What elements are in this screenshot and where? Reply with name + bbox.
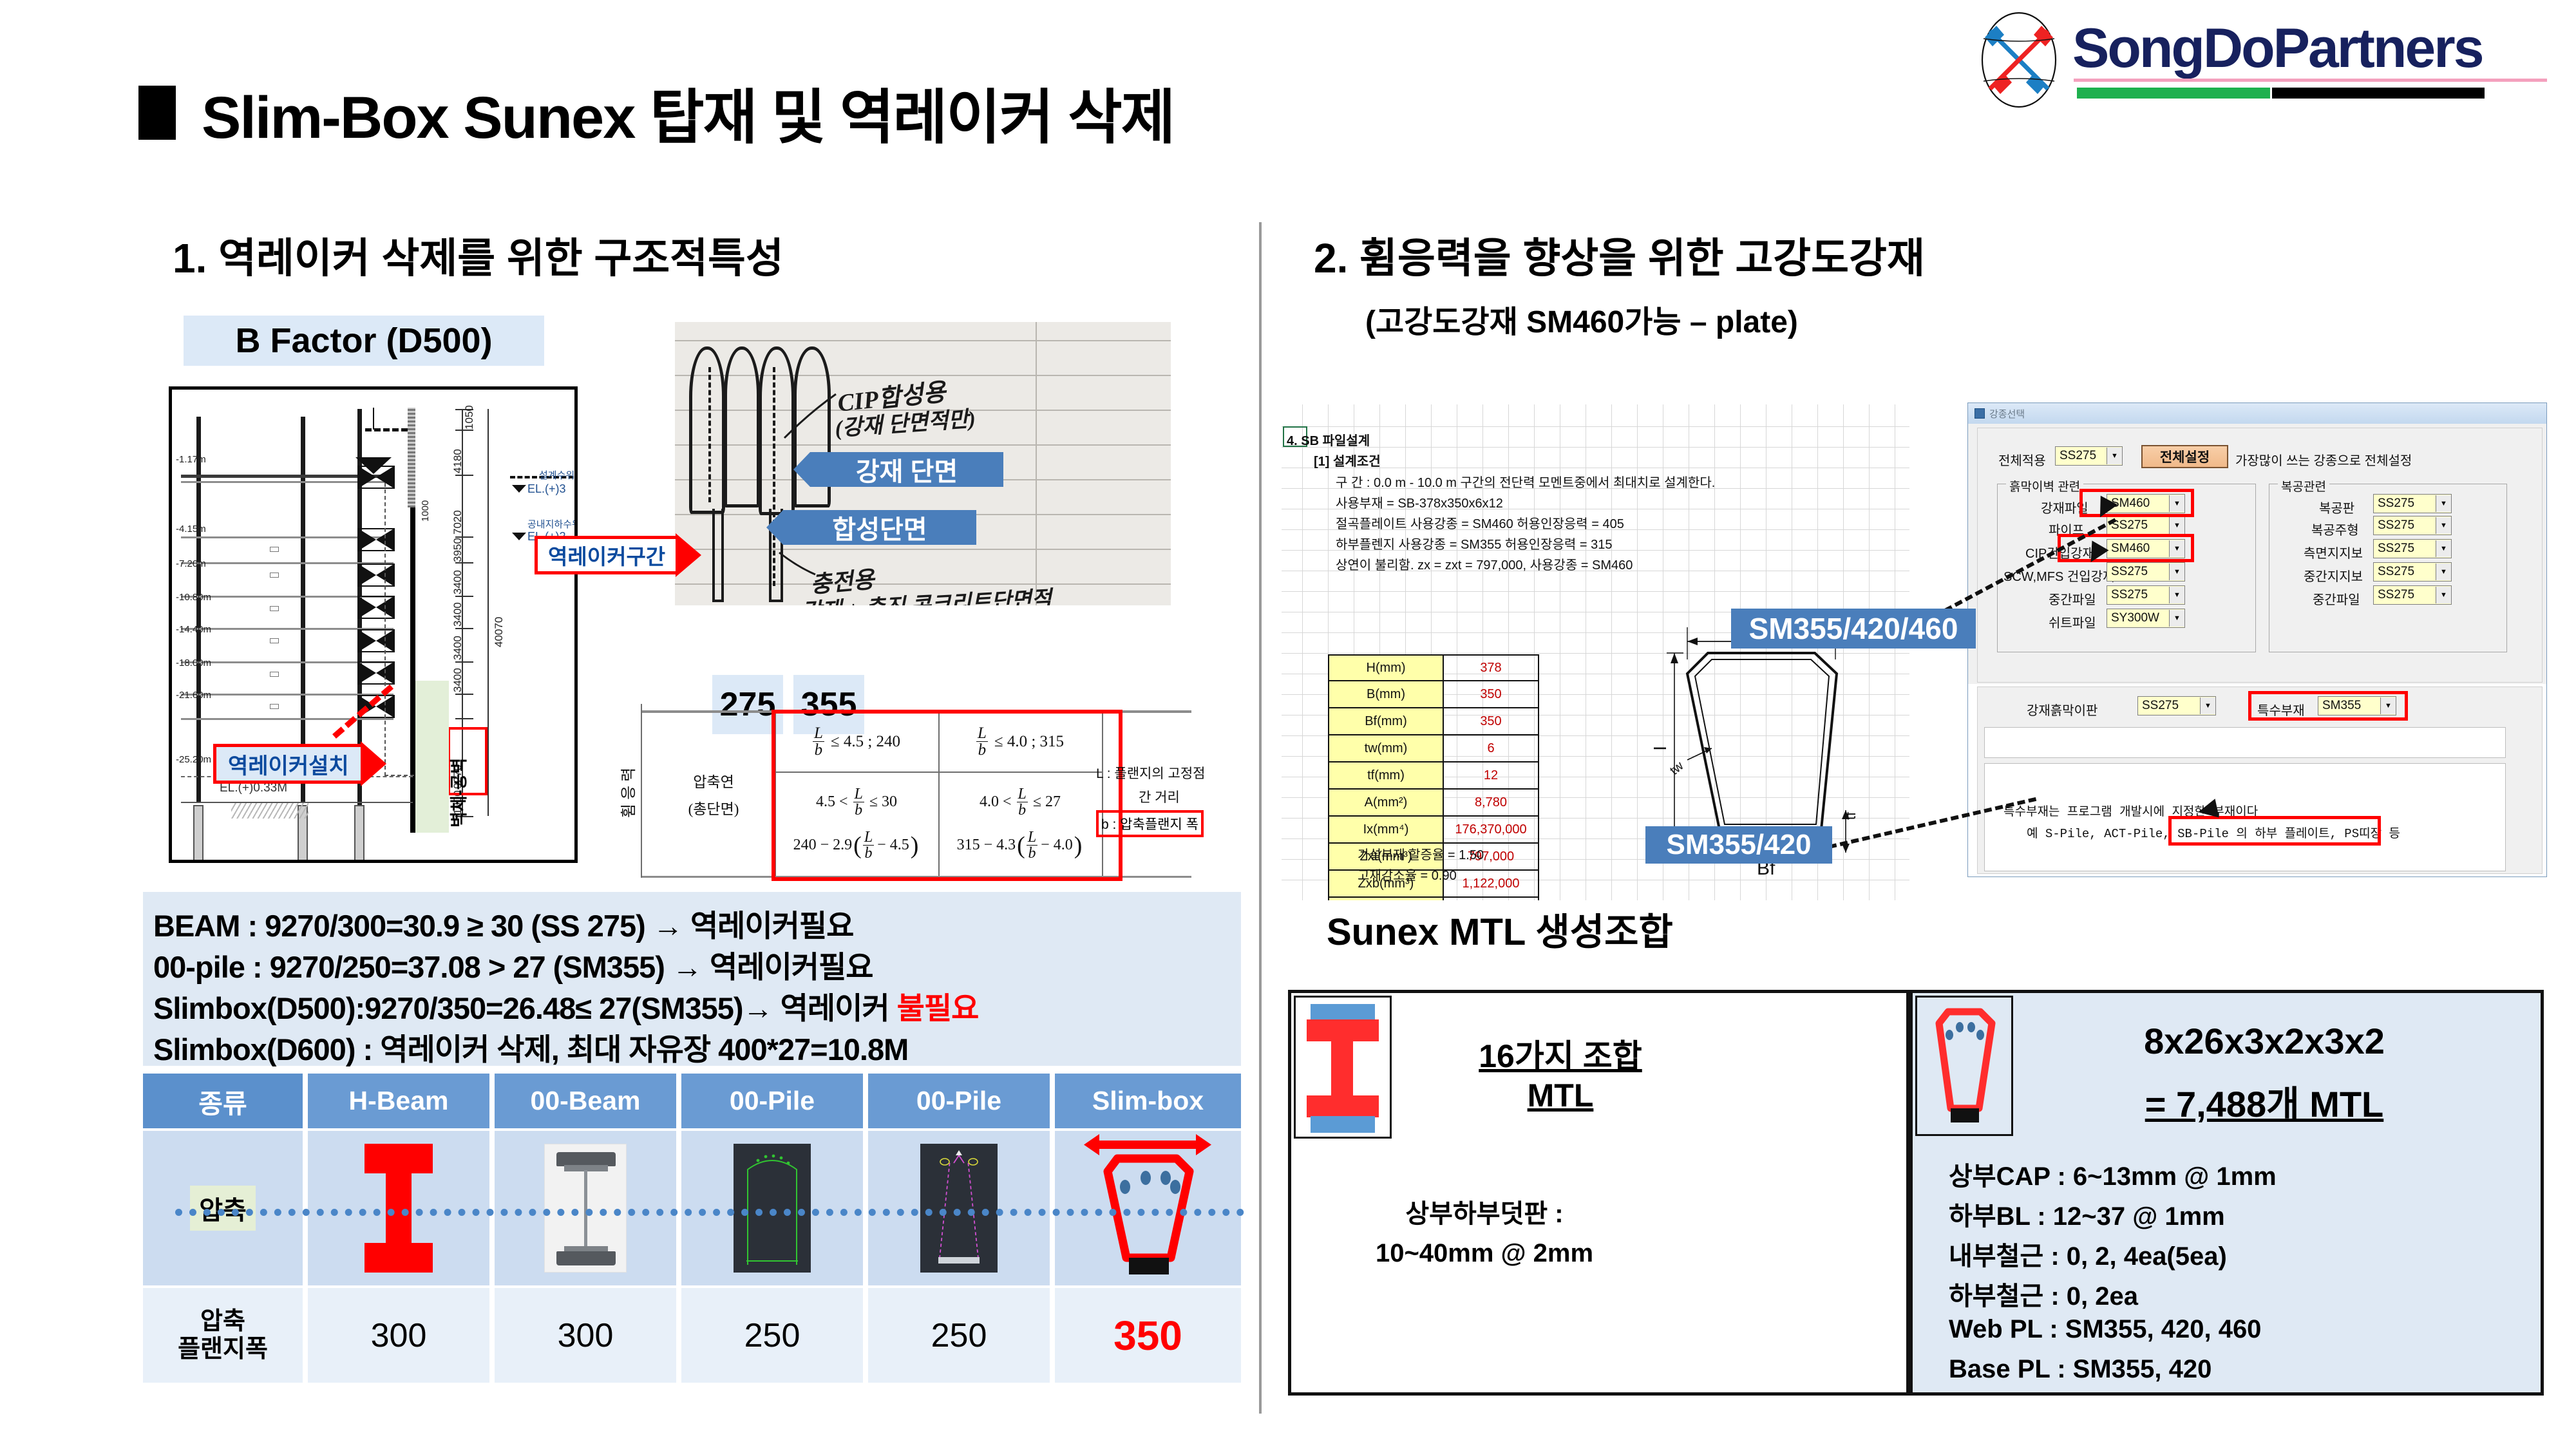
comparison-bottom-label-line2: 플랜지폭: [178, 1336, 268, 1363]
apply-all-note: 가장많이 쓰는 강종으로 전체설정: [2235, 450, 2412, 469]
apply-all-combo-value: SS275: [2056, 449, 2107, 463]
sketch-tag-steel-section-label: 강재 단면: [856, 451, 958, 488]
dialog-highlight-special: [2248, 691, 2408, 721]
comparison-mid-00pile-a: [681, 1131, 866, 1285]
calc-line-3-emph: 불필요: [897, 991, 979, 1025]
prop-key-0: H(mm): [1329, 656, 1444, 680]
table-row: B(mm)350: [1328, 681, 1539, 708]
prop-val-2: 350: [1444, 708, 1538, 734]
chevron-down-icon[interactable]: ▼: [2169, 587, 2184, 603]
logo-mark-icon: [1964, 12, 2074, 108]
field-combo-sheet-pile[interactable]: SY300W ▼: [2107, 609, 2185, 628]
h-beam-section-icon: [365, 1144, 433, 1273]
slim-box-icon: [1922, 1001, 2006, 1130]
logo-pink-rule: [2074, 79, 2547, 82]
field-label-side-support: 측면지지보: [2304, 543, 2363, 562]
chevron-down-icon[interactable]: ▼: [2169, 517, 2184, 534]
title-text: Slim-Box Sunex 탑재 및 역레이커 삭제: [202, 70, 1174, 155]
section2-heading: 2. 휨응력을 향상을 위한 고강도강재: [1314, 225, 1925, 285]
spreadsheet-tag-sm355-420: SM355/420: [1645, 826, 1832, 864]
prop-key-2: Bf(mm): [1329, 708, 1444, 734]
calc-line-3: Slimbox(D500):9270/350=26.48≤ 27(SM355)→…: [153, 983, 978, 1028]
field-label-mid-pile-2: 중간파일: [2313, 589, 2360, 608]
comparison-mid-00beam: [495, 1131, 679, 1285]
oo-pile-cad-icon-a: [734, 1144, 811, 1273]
cad-water-note-2: 공내지하수위: [527, 517, 578, 531]
cad-dim-3400-a: 3400: [451, 570, 464, 594]
comparison-header-5: Slim-box: [1055, 1074, 1241, 1128]
field-combo-mid-pile[interactable]: SS275 ▼: [2107, 585, 2185, 605]
comparison-value-1: 300: [495, 1288, 679, 1383]
cad-depth-6: -18.00m: [176, 658, 211, 668]
cad-green-band-text: 벽체-공벽: [445, 758, 470, 828]
prop-val-3: 6: [1444, 735, 1538, 761]
calc-line-3-text: Slimbox(D500):9270/350=26.48≤ 27(SM355)→…: [153, 991, 897, 1025]
spreadsheet-tag-sm355-420-label: SM355/420: [1666, 829, 1811, 861]
mtl-panel-right-item-0: 상부CAP : 6~13mm @ 1mm: [1949, 1155, 2277, 1193]
field-label-mid-pile: 중간파일: [2049, 589, 2096, 608]
field-label-deck-plate: 복공판: [2319, 498, 2354, 516]
mtl-panel-right-item-3: 하부철근 : 0, 2ea: [1949, 1275, 2138, 1312]
prop-key-9: rx(mm): [1329, 898, 1444, 900]
apply-all-button[interactable]: 전체설정: [2141, 445, 2228, 468]
cad-depth-5: -14.40m: [176, 624, 211, 635]
mtl-panel-right-item-5: Base PL : SM355, 420: [1949, 1355, 2211, 1384]
cad-dim-3400-c: 3400: [451, 636, 464, 660]
prop-key-3: tw(mm): [1329, 735, 1444, 761]
comparison-value-0: 300: [308, 1288, 492, 1383]
section-divider-vertical-lower: [1259, 918, 1262, 1414]
slim-box-section-icon: [1079, 1132, 1217, 1285]
table-row: A(mm²)8,780: [1328, 790, 1539, 817]
spreadsheet-tag-sm355-420-460-label: SM355/420/460: [1749, 611, 1958, 646]
chevron-down-icon[interactable]: ▼: [2436, 587, 2451, 603]
cad-dim-1000-a: 1000: [420, 500, 431, 522]
sb-dim-tf: tf: [1842, 812, 1859, 820]
prop-val-4: 12: [1444, 762, 1538, 788]
logo-green-bar: [2077, 88, 2270, 99]
field-value-mid-pile-2: SS275: [2374, 588, 2436, 602]
sketch-callout-region-label: 역레이커구간: [535, 536, 676, 574]
formula-col-label-line2: (총단면): [688, 797, 739, 819]
table-row: tf(mm)12: [1328, 762, 1539, 790]
comparison-header-3: 00-Pile: [681, 1074, 866, 1128]
comparison-mid-00pile-b: [868, 1131, 1052, 1285]
spreadsheet-tag-sm355-420-460: SM355/420/460: [1731, 609, 1976, 649]
comparison-value-2: 250: [681, 1288, 866, 1383]
formula-col-label: 압축연 (총단면): [654, 712, 773, 876]
comparison-header-2: 00-Beam: [495, 1074, 679, 1128]
chevron-down-icon[interactable]: ▼: [2436, 540, 2451, 557]
mtl-panel-ibeam: 16가지 조합 MTL 상부하부덧판 : 10~40mm @ 2mm: [1288, 990, 1909, 1396]
cad-water-note-1: 설계수위: [539, 468, 574, 482]
cad-depth-2: -4.15m: [176, 524, 206, 535]
field-label-sheet-pile: 쉬트파일: [2049, 612, 2096, 631]
field-combo-steel-panel[interactable]: SS275 ▼: [2137, 696, 2216, 715]
formula-note-L-2: 간 거리: [1139, 787, 1180, 806]
formula-col-label-line1: 압축연: [693, 770, 734, 791]
field-label-deck-girder: 복공주형: [2311, 520, 2359, 538]
field-label-mid-support: 중간지지보: [2304, 566, 2363, 585]
cad-dim-4180: 4180: [451, 449, 464, 473]
group-retaining-wall-title: 흙막이벽 관련: [2006, 477, 2083, 495]
comparison-mid-label: 압축: [190, 1186, 256, 1231]
cad-dim-40070: 40070: [493, 617, 506, 647]
cad-section-drawing: 1050 4180 7020 3950 3400 3400 3400 3400 …: [169, 386, 578, 863]
comparison-table: 종류 H-Beam 00-Beam 00-Pile 00-Pile Slim-b…: [143, 1074, 1241, 1383]
field-value-mid-support: SS275: [2374, 565, 2436, 579]
chevron-down-icon[interactable]: ▼: [2436, 517, 2451, 534]
dialog-body: 전체적용 SS275 ▼ 전체설정 가장많이 쓰는 강종으로 전체설정 흙막이벽…: [1977, 428, 2543, 683]
prop-val-0: 378: [1444, 656, 1538, 680]
formula-note-L: L : 플랜지의 고정점: [1096, 763, 1205, 782]
comparison-mid-slimbox: [1055, 1131, 1241, 1285]
spreadsheet-footer-1: 가설부재 할증율 = 1.50: [1358, 844, 1484, 863]
field-value-side-support: SS275: [2374, 542, 2436, 556]
table-row: tw(mm)6: [1328, 735, 1539, 762]
dialog-window-icon: [1975, 408, 1985, 419]
cad-dim-3950: 3950: [451, 538, 464, 562]
cad-depth-8: -25.20m: [176, 754, 211, 765]
comparison-bottom-label-cell: 압축 플랜지폭: [143, 1288, 305, 1383]
sketch-tag-composite-section: 합성단면: [783, 510, 976, 545]
chevron-down-icon[interactable]: ▼: [2436, 563, 2451, 580]
field-combo-deck-plate[interactable]: SS275 ▼: [2373, 494, 2452, 513]
oo-pile-cad-icon-b: [920, 1144, 998, 1273]
apply-all-label: 전체적용: [1998, 450, 2046, 469]
prop-val-1: 350: [1444, 681, 1538, 707]
sketch-tag-steel-section: 강재 단면: [810, 452, 1003, 487]
page-title: Slim-Box Sunex 탑재 및 역레이커 삭제: [138, 70, 1174, 155]
steel-grade-dialog[interactable]: 강종선택 전체적용 SS275 ▼ 전체설정 가장많이 쓰는 강종으로 전체설정…: [1967, 402, 2547, 686]
formula-note-b: b : 압축플랜지 폭: [1096, 810, 1204, 837]
comparison-header-4: 00-Pile: [868, 1074, 1052, 1128]
spreadsheet-line-1: 구 간 : 0.0 m - 10.0 m 구간의 전단력 모멘트중에서 최대치로…: [1336, 472, 1715, 491]
sketch-callout-region: 역레이커구간: [535, 533, 701, 577]
mtl-section-heading: Sunex MTL 생성조합: [1327, 902, 1673, 956]
field-value-sheet-pile: SY300W: [2107, 611, 2169, 625]
mtl-panel-slimbox: 8x26x3x2x3x2 = 7,488개 MTL 상부CAP : 6~13mm…: [1909, 990, 2544, 1396]
calc-line-2: 00-pile : 9270/250=37.08 > 27 (SM355) → …: [153, 942, 873, 987]
cad-green-band: [415, 681, 449, 833]
ibeam-with-plates-icon: [1307, 1004, 1379, 1133]
field-combo-mid-support[interactable]: SS275 ▼: [2373, 562, 2452, 582]
comparison-mid-label-cell: 압축: [143, 1131, 305, 1285]
comparison-header-1: H-Beam: [308, 1074, 492, 1128]
comparison-value-4: 350: [1055, 1288, 1241, 1383]
spreadsheet-line-4: 하부플렌지 사용강종 = SM355 허용인장응력 = 315: [1336, 534, 1612, 553]
comparison-neutral-axis-line: [175, 1209, 1244, 1216]
spreadsheet-line-5: 상연이 불리함. zx = zxt = 797,000, 사용강종 = SM46…: [1336, 554, 1633, 573]
dialog-panel-blank: [1984, 727, 2506, 758]
prop-val-8: 1,122,000: [1444, 871, 1538, 896]
mtl-panel-right-item-1: 하부BL : 12~37 @ 1mm: [1949, 1195, 2225, 1233]
table-row: rx(mm)142.0: [1328, 898, 1539, 900]
steel-grade-dialog-lower[interactable]: 강재흙막이판 SS275 ▼ 특수부재 SM355 ▼ 특수부재는 프로그램 개…: [1967, 684, 2547, 877]
cad-dim-3400-b: 3400: [451, 602, 464, 627]
table-row: Bf(mm)350: [1328, 708, 1539, 735]
group-decking-title: 복공관련: [2278, 477, 2329, 495]
section-divider-vertical: [1259, 222, 1262, 918]
cad-depth-4: -10.80m: [176, 592, 211, 603]
mtl-ibeam-thumb-box: [1294, 996, 1392, 1139]
field-combo-scw[interactable]: SS275 ▼: [2107, 562, 2185, 582]
prop-val-6: 176,370,000: [1444, 817, 1538, 842]
field-value-mid-pile: SS275: [2107, 588, 2169, 602]
dialog-lower-body: 강재흙막이판 SS275 ▼ 특수부재 SM355 ▼ 특수부재는 프로그램 개…: [1977, 687, 2543, 874]
mtl-panel-left-sub-1: 상부하부덧판 :: [1323, 1193, 1645, 1230]
apply-all-combo[interactable]: SS275 ▼: [2055, 446, 2123, 466]
section1-heading: 1. 역레이커 삭제를 위한 구조적특성: [173, 225, 784, 285]
sketch-tag-composite-section-label: 합성단면: [832, 509, 927, 546]
bfactor-formula-table: 275 355 휨응력 압축연 (총단면) Lb ≤ 4.5 ; 240 Lb …: [618, 663, 1236, 885]
prop-val-5: 8,780: [1444, 790, 1538, 815]
field-combo-side-support[interactable]: SS275 ▼: [2373, 539, 2452, 558]
dialog-arrow-3-icon: [2196, 799, 2219, 822]
field-combo-pipe[interactable]: SS275 ▼: [2107, 516, 2185, 535]
prop-key-4: tf(mm): [1329, 762, 1444, 788]
prop-key-6: Ix(mm⁴): [1329, 817, 1444, 842]
oo-beam-section-icon: [544, 1144, 627, 1273]
field-combo-mid-pile-2[interactable]: SS275 ▼: [2373, 585, 2452, 605]
logo-black-bar: [2272, 88, 2485, 99]
cad-dim-3400-d: 3400: [451, 668, 464, 692]
calculation-text-block: BEAM : 9270/300=30.9 ≥ 30 (SS 275) → 역레이…: [143, 892, 1241, 1066]
comparison-bottom-label-line1: 압축: [178, 1308, 268, 1336]
section-properties-table: H(mm)378 B(mm)350 Bf(mm)350 tw(mm)6 tf(m…: [1328, 654, 1539, 900]
spreadsheet-footer-2: 고재감소율 = 0.90: [1358, 865, 1457, 884]
field-label-steel-panel: 강재흙막이판: [2027, 700, 2098, 719]
chevron-down-icon[interactable]: ▼: [2436, 495, 2451, 512]
chevron-down-icon[interactable]: ▼: [2169, 610, 2184, 627]
mtl-panel-right-title-2: = 7,488개 MTL: [2039, 1075, 2490, 1128]
prop-key-1: B(mm): [1329, 681, 1444, 707]
spreadsheet-subtitle: [1] 설계조건: [1314, 451, 1381, 469]
spreadsheet-line-3: 절곡플레이트 사용강종 = SM460 허용인장응력 = 405: [1336, 513, 1624, 532]
calc-line-1: BEAM : 9270/300=30.9 ≥ 30 (SS 275) → 역레이…: [153, 901, 853, 945]
mtl-panel-left-title-1: 16가지 조합: [1412, 1030, 1709, 1077]
formula-table-red-highlight: [772, 710, 1122, 881]
cad-dim-7020: 7020: [451, 510, 464, 535]
field-value-steel-panel: SS275: [2138, 699, 2200, 713]
cad-depth-7: -21.60m: [176, 690, 211, 701]
cad-depth-3: -7.20m: [176, 558, 206, 569]
table-row: Ix(mm⁴)176,370,000: [1328, 817, 1539, 844]
comparison-mid-hbeam: [308, 1131, 492, 1285]
logo-wordmark: SongDoPartners: [2072, 17, 2483, 80]
mtl-slimbox-thumb-box: [1915, 996, 2013, 1136]
cad-el-label-1: EL.(+)3: [527, 482, 566, 496]
section2-subheading: (고강도강재 SM460가능 – plate): [1365, 296, 1798, 341]
comparison-header-0: 종류: [143, 1074, 305, 1128]
sb-dim-I: I: [1650, 746, 1671, 751]
dialog-title: 강종선택: [1989, 407, 2025, 421]
brand-logo: SongDoPartners: [1964, 6, 2557, 109]
comparison-value-3: 250: [868, 1288, 1052, 1383]
mtl-panel-right-item-2: 내부철근 : 0, 2, 4ea(5ea): [1949, 1235, 2227, 1273]
mtl-panel-right-item-4: Web PL : SM355, 420, 460: [1949, 1315, 2261, 1344]
mtl-panel-left-sub-2: 10~40mm @ 2mm: [1323, 1239, 1645, 1268]
field-value-deck-plate: SS275: [2374, 497, 2436, 511]
title-bullet-square-icon: [138, 86, 176, 140]
field-value-scw: SS275: [2107, 565, 2169, 579]
cad-callout-install: 역레이커설치: [213, 741, 386, 786]
cad-dim-1050: 1050: [463, 405, 476, 430]
field-value-pipe: SS275: [2107, 518, 2169, 533]
chevron-down-icon[interactable]: ▼: [2107, 448, 2122, 464]
mtl-panel-left-title-2: MTL: [1412, 1077, 1709, 1114]
field-combo-deck-girder[interactable]: SS275 ▼: [2373, 516, 2452, 535]
formula-row-label-vertical: 휨응력: [616, 764, 638, 818]
bfactor-label: B Factor (D500): [184, 316, 544, 366]
hand-sketch-photo: CIP합성용 (강재 단면적만) 충전용 강재 + 충진 콘크리트단면적 강재 …: [675, 322, 1171, 605]
cad-callout-install-label: 역레이커설치: [213, 744, 361, 784]
prop-val-9: 142.0: [1444, 898, 1538, 900]
mtl-panel-right-title-1: 8x26x3x2x3x2: [2039, 1020, 2490, 1062]
calc-line-4: Slimbox(D600) : 역레이커 삭제, 최대 자유장 400*27=1…: [153, 1025, 908, 1069]
field-value-deck-girder: SS275: [2374, 518, 2436, 533]
prop-key-5: A(mm²): [1329, 790, 1444, 815]
cad-depth-1: -1.17m: [176, 454, 206, 465]
dialog-titlebar: 강종선택: [1968, 403, 2546, 424]
spreadsheet-line-2: 사용부재 = SB-378x350x6x12: [1336, 493, 1503, 511]
spreadsheet-cell-ref-text: 4. SB 파일설계: [1287, 430, 1370, 449]
apply-all-button-label: 전체설정: [2160, 447, 2210, 466]
chevron-down-icon[interactable]: ▼: [2200, 697, 2215, 714]
chevron-down-icon[interactable]: ▼: [2169, 563, 2184, 580]
table-row: H(mm)378: [1328, 654, 1539, 681]
